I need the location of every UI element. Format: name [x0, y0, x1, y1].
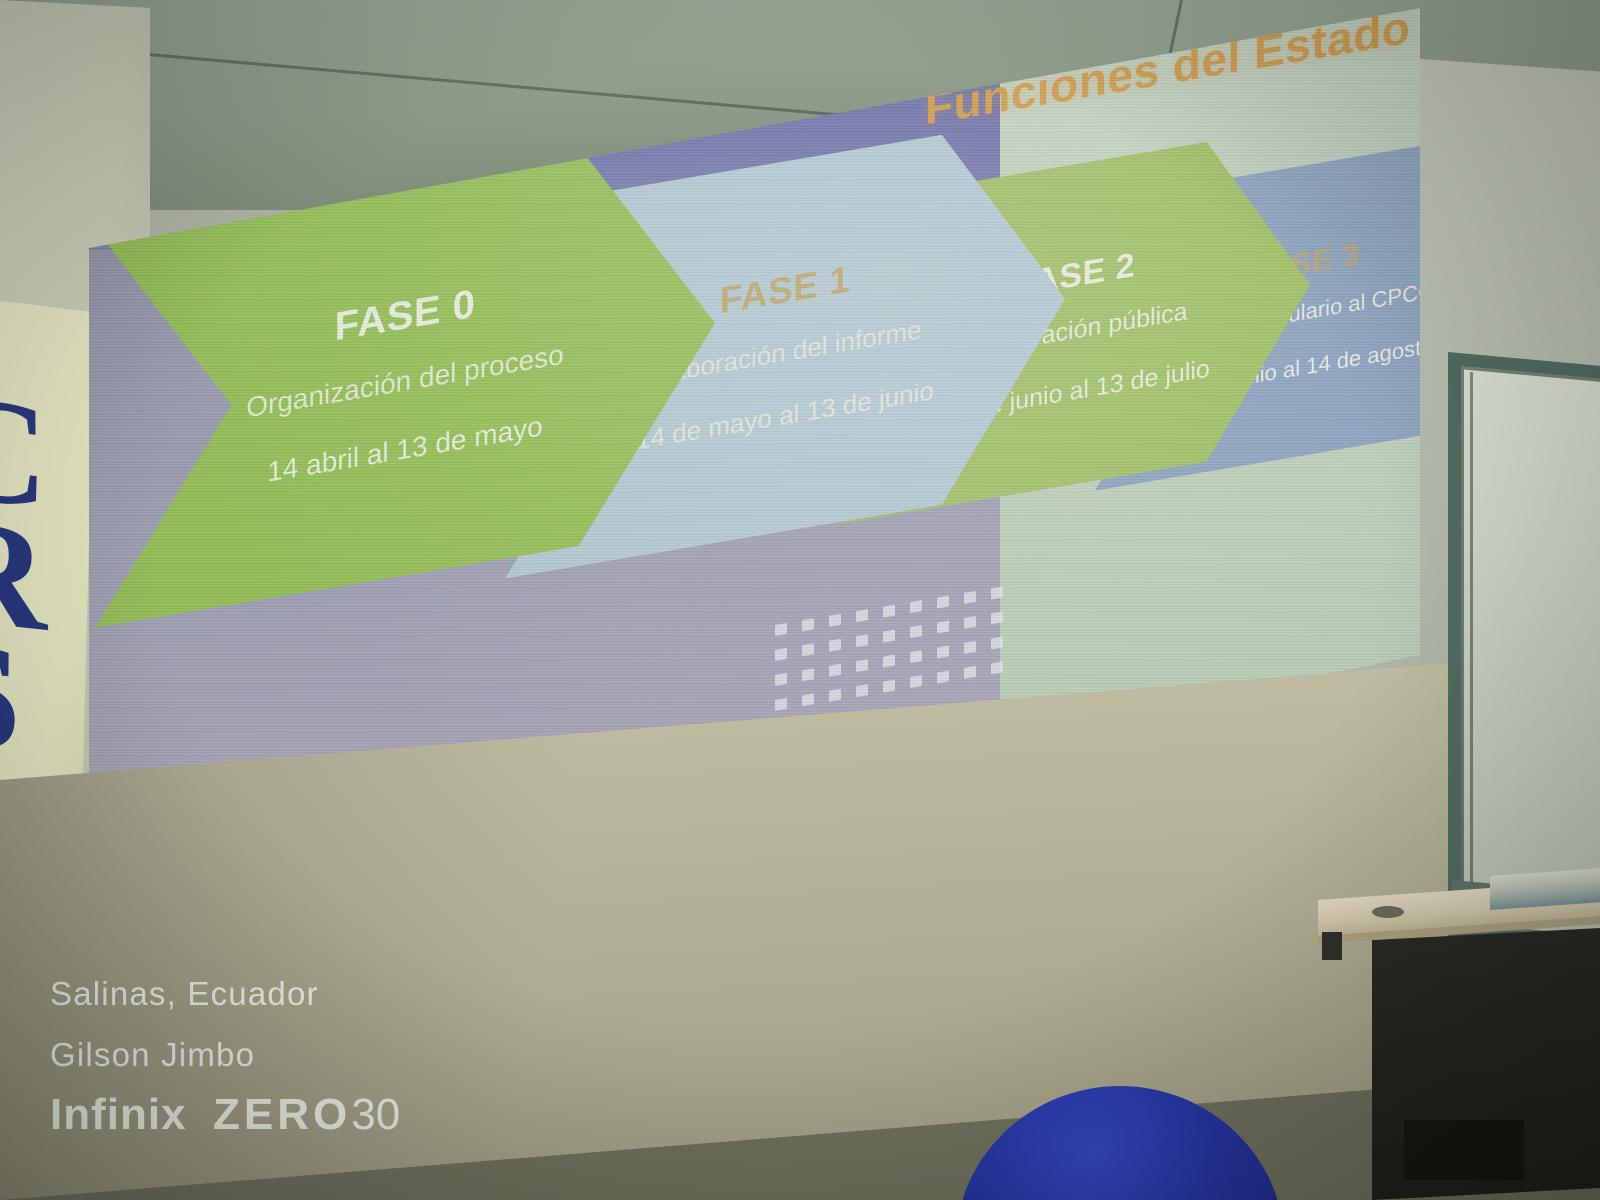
- watermark-author: Gilson Jimbo: [50, 1036, 255, 1074]
- watermark-model-number: 30: [351, 1090, 400, 1139]
- window-sash-line: [1470, 372, 1473, 892]
- watermark-location: Salinas, Ecuador: [50, 975, 319, 1013]
- poster-letters: CRS: [0, 384, 43, 764]
- cabinet-panel: [1404, 1120, 1524, 1180]
- desk-bracket: [1322, 932, 1342, 960]
- watermark-brand-name: Infinix: [50, 1090, 187, 1139]
- photo-scene: CRS ...ymanta ...kuy CRONOGRAMA Funcione…: [0, 0, 1600, 1200]
- watermark-model-prefix: ZERO: [213, 1090, 351, 1139]
- watermark-brand: Infinix ZERO30: [50, 1090, 400, 1140]
- desk-cable-grommet: [1372, 906, 1404, 918]
